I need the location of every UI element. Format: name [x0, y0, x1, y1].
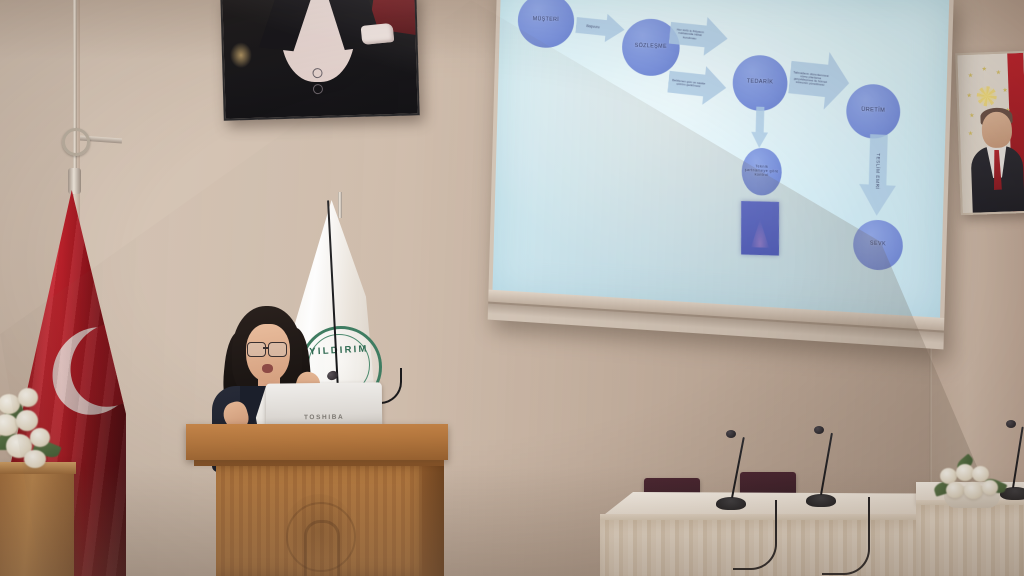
microphone-head	[1006, 420, 1016, 428]
seal-star-icon	[967, 93, 972, 98]
arrow-label: Her türlü iş ihtiyacın noktasında irtiba…	[669, 28, 708, 42]
arrow-label: Talimatların düzenlenmesi süreç planlama…	[789, 70, 829, 88]
microphone-head	[814, 426, 824, 434]
glasses-lens-left	[247, 342, 266, 357]
laptop: TOSHIBA	[266, 382, 382, 427]
arrow-label: Başvuru	[576, 23, 608, 30]
portrait-face	[981, 111, 1012, 148]
microphone-head	[726, 430, 736, 438]
presenter-mouth	[262, 364, 273, 373]
floor-shadow	[0, 466, 1024, 576]
glasses-bridge	[263, 347, 269, 349]
seal-star-icon	[968, 131, 973, 136]
conference-hall-photo: MÜŞTERİ SÖZLEŞME TEDARİK ÜRETİM Teknik ş…	[0, 0, 1024, 576]
flagpole-finial	[68, 168, 81, 194]
arrow-label: TESLİM EMRİ	[875, 152, 882, 189]
laptop-brand-label: TOSHIBA	[266, 413, 382, 421]
seal-star-icon	[1002, 87, 1007, 92]
seal-star-icon	[968, 73, 973, 78]
seal-star-icon	[996, 70, 1001, 75]
seal-star-icon	[982, 66, 987, 71]
glasses-lens-right	[268, 342, 287, 357]
podium-desktop	[186, 424, 448, 460]
presidential-seal-sun-icon	[974, 84, 999, 109]
flagpole-bracket-ring	[62, 128, 90, 156]
arrow-label: Belirlenen gün ve saatte çözüm getirilme…	[668, 78, 707, 89]
seal-star-icon	[969, 113, 974, 118]
president-portrait	[955, 51, 1024, 215]
